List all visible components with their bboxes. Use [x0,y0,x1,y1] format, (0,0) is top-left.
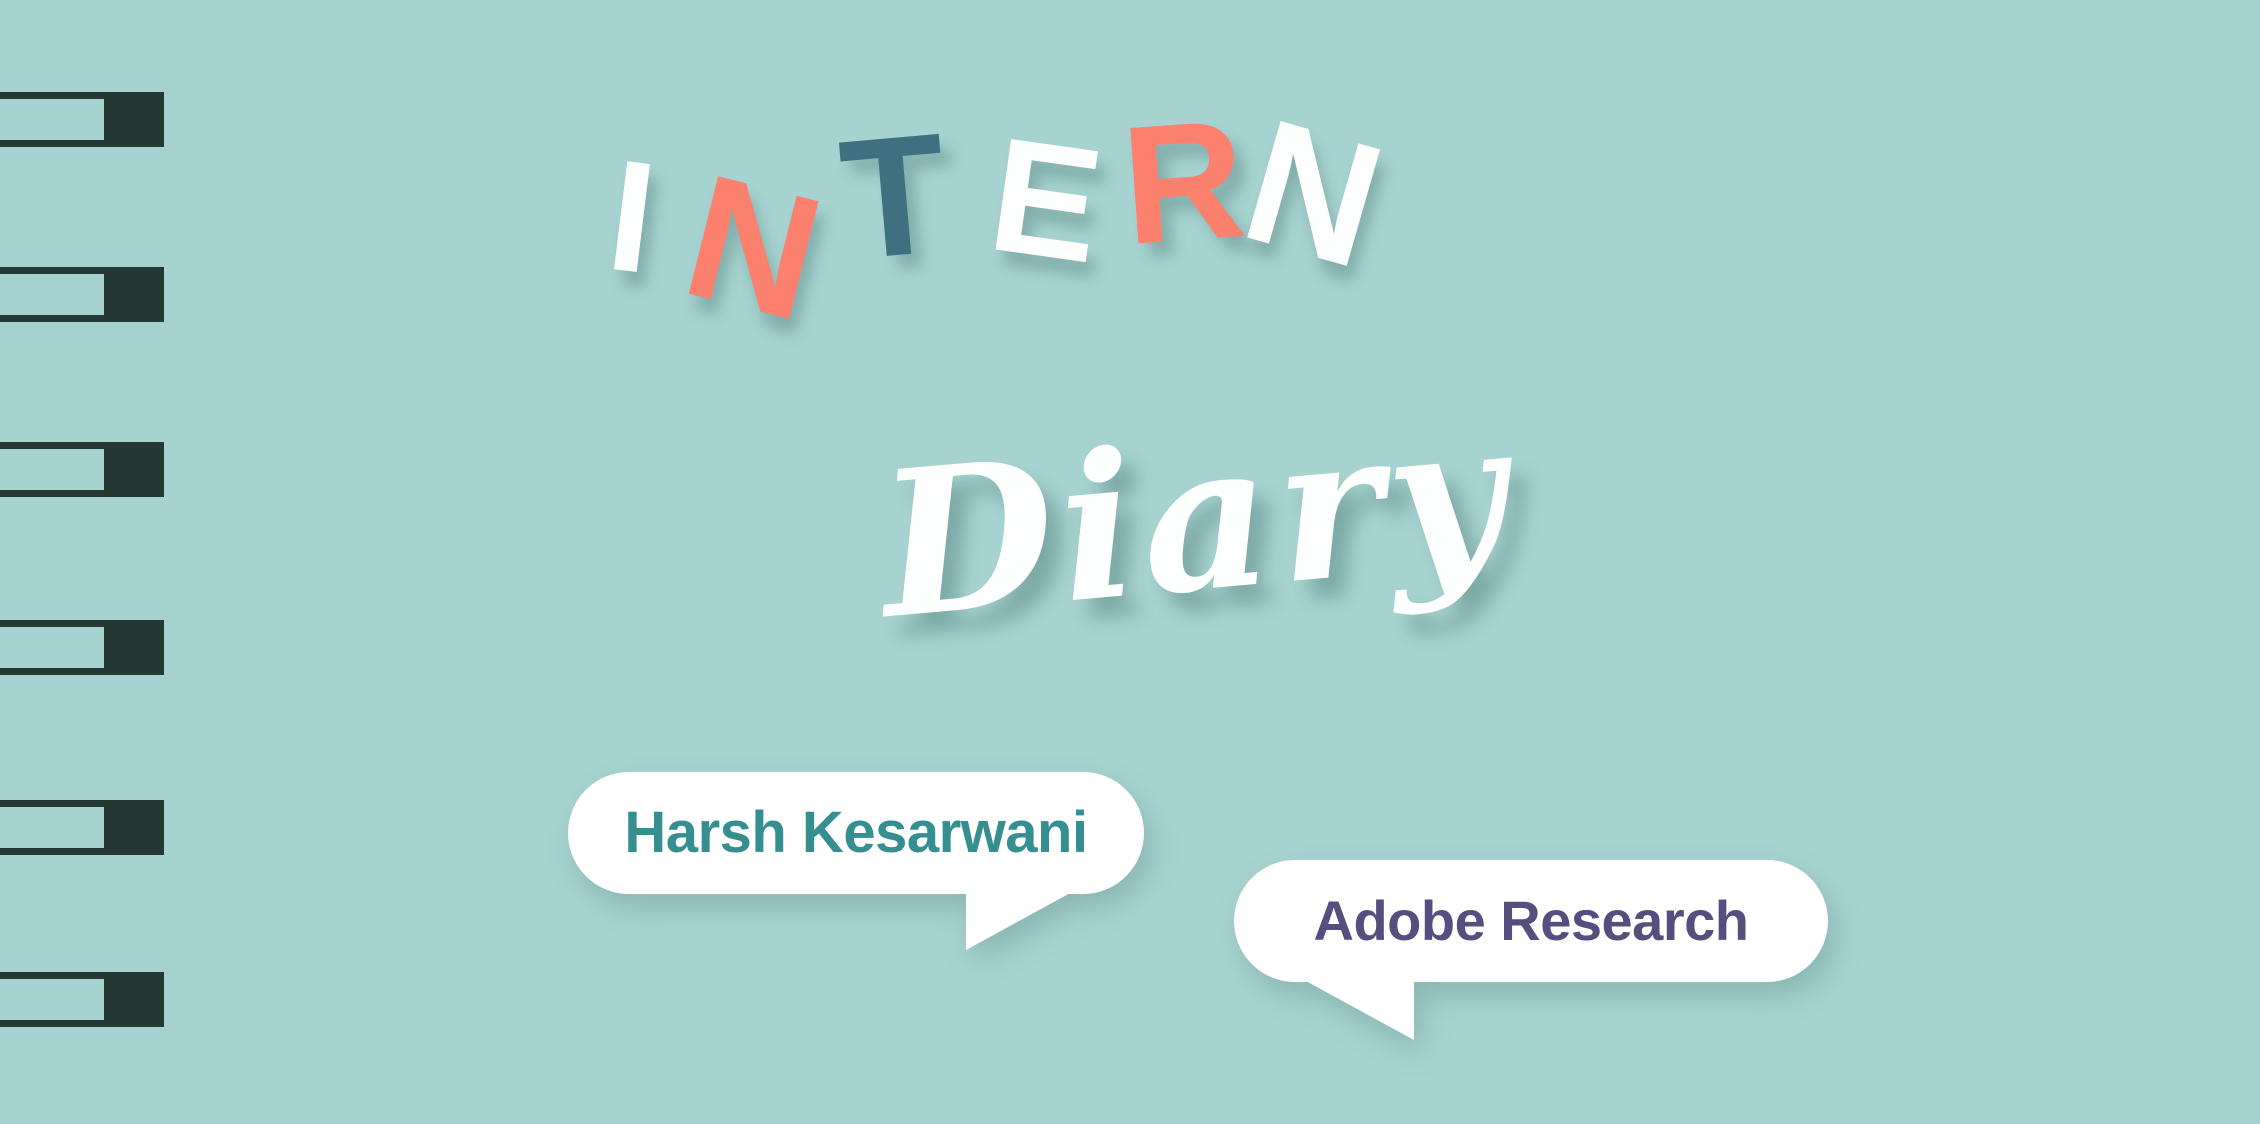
title-letter-e: E [981,113,1111,288]
page-subtitle: Diary [872,393,1518,647]
presenter-name-label: Harsh Kesarwani [624,804,1087,862]
speech-bubble-presenter-name: Harsh Kesarwani [568,772,1144,894]
page-title: I N T E R N [610,120,1610,370]
speech-bubble-tail-icon [966,880,1094,950]
title-letter-i: I [601,136,664,298]
speech-bubble-organization: Adobe Research [1234,860,1828,982]
organization-label: Adobe Research [1314,893,1749,949]
title-letter-r: R [1117,94,1250,270]
speech-bubble-tail-icon [1282,968,1414,1040]
spiral-ring-icon [0,972,164,1027]
title-letter-n1: N [671,147,837,349]
slide-canvas: I N T E R N Diary Harsh Kesarwani Adobe … [0,0,2260,1124]
spiral-ring-icon [0,267,164,322]
spiral-ring-icon [0,92,164,147]
spiral-ring-icon [0,800,164,855]
title-letter-t: T [835,108,953,286]
title-letter-n2: N [1228,92,1399,296]
spiral-ring-icon [0,442,164,497]
notebook-binding [0,0,180,1124]
spiral-ring-icon [0,620,164,675]
